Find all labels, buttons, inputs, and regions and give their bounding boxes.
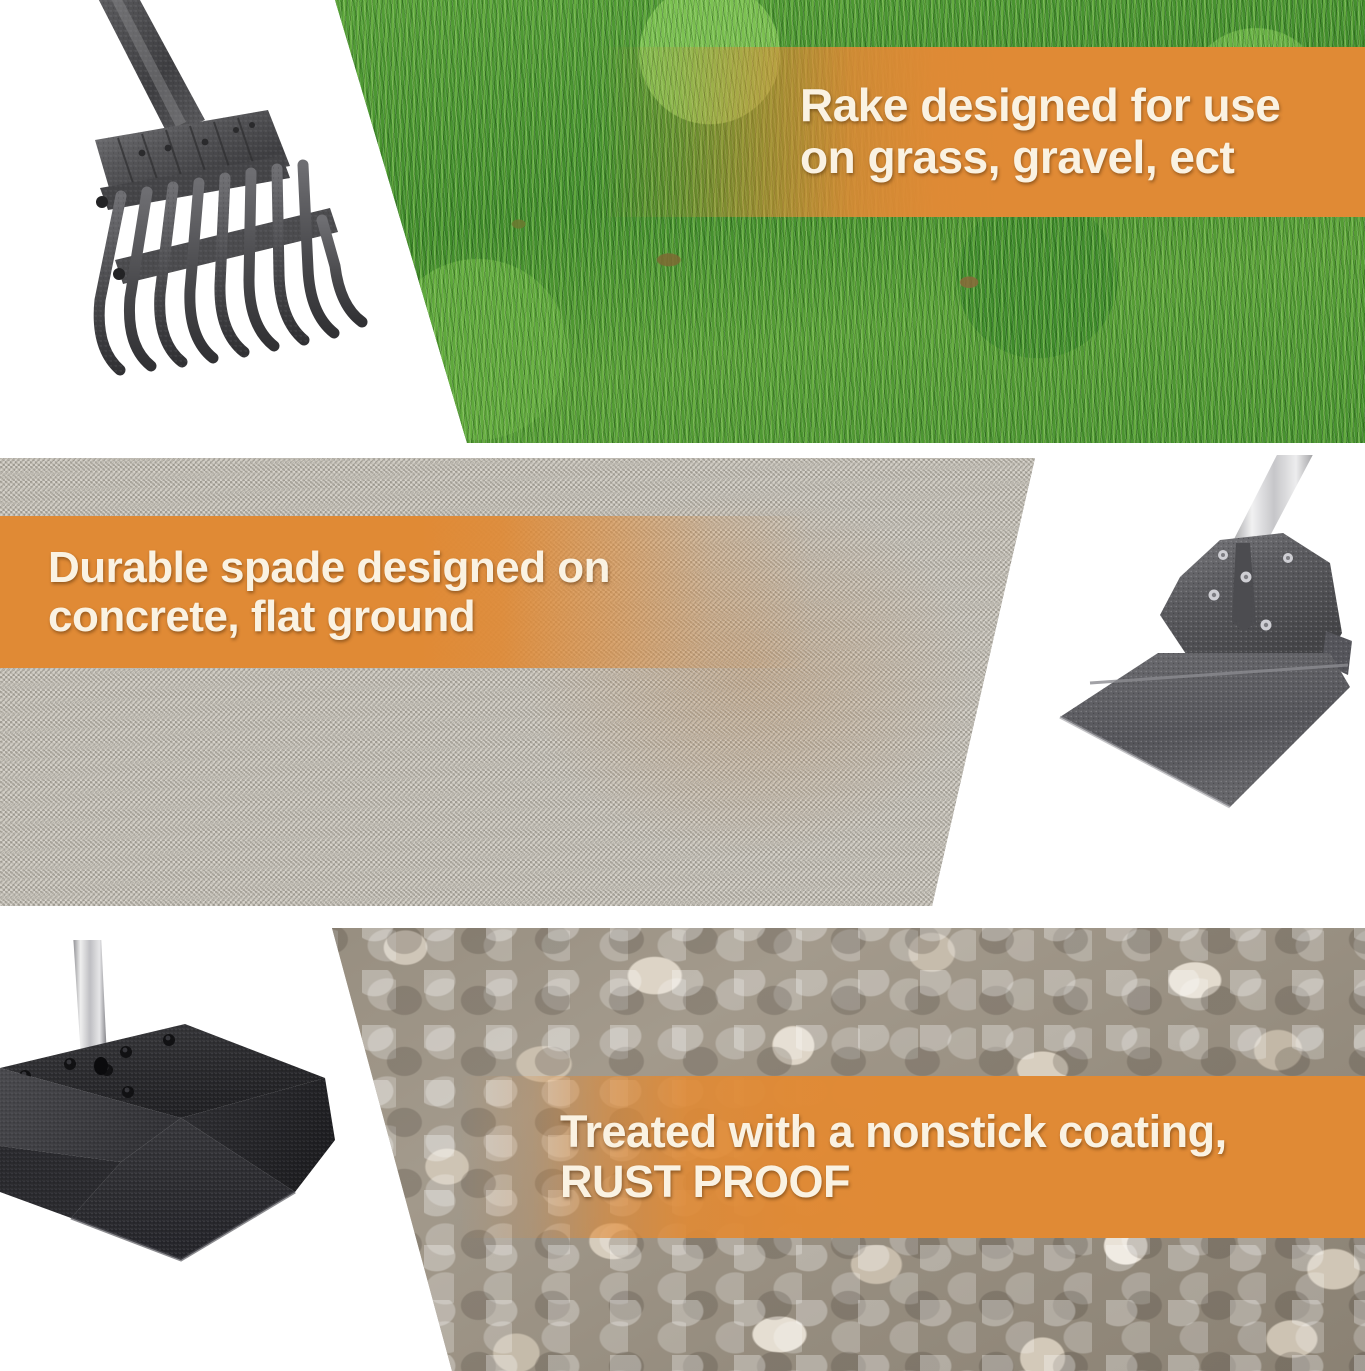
banner-spade-line-1: Durable spade designed on bbox=[48, 543, 810, 592]
spade-tool-image bbox=[1030, 455, 1365, 875]
scoop-pole bbox=[73, 940, 107, 1058]
banner-spade-line-2: concrete, flat ground bbox=[48, 592, 810, 641]
scoop-tool-image bbox=[0, 940, 345, 1270]
banner-coating: Treated with a nonstick coating, RUST PR… bbox=[460, 1076, 1365, 1238]
banner-rake-line-2: on grass, gravel, ect bbox=[800, 132, 1365, 184]
spade-lower-blade bbox=[1060, 653, 1350, 807]
rake-handle bbox=[63, 0, 205, 135]
rake-tool-image bbox=[0, 0, 410, 430]
banner-spade: Durable spade designed on concrete, flat… bbox=[0, 516, 810, 668]
banner-coating-line-2: RUST PROOF bbox=[560, 1157, 1365, 1207]
banner-rake: Rake designed for use on grass, gravel, … bbox=[600, 47, 1365, 217]
banner-coating-line-1: Treated with a nonstick coating, bbox=[560, 1107, 1365, 1157]
banner-rake-line-1: Rake designed for use bbox=[800, 80, 1365, 132]
product-feature-collage: Rake designed for use on grass, gravel, … bbox=[0, 0, 1365, 1371]
